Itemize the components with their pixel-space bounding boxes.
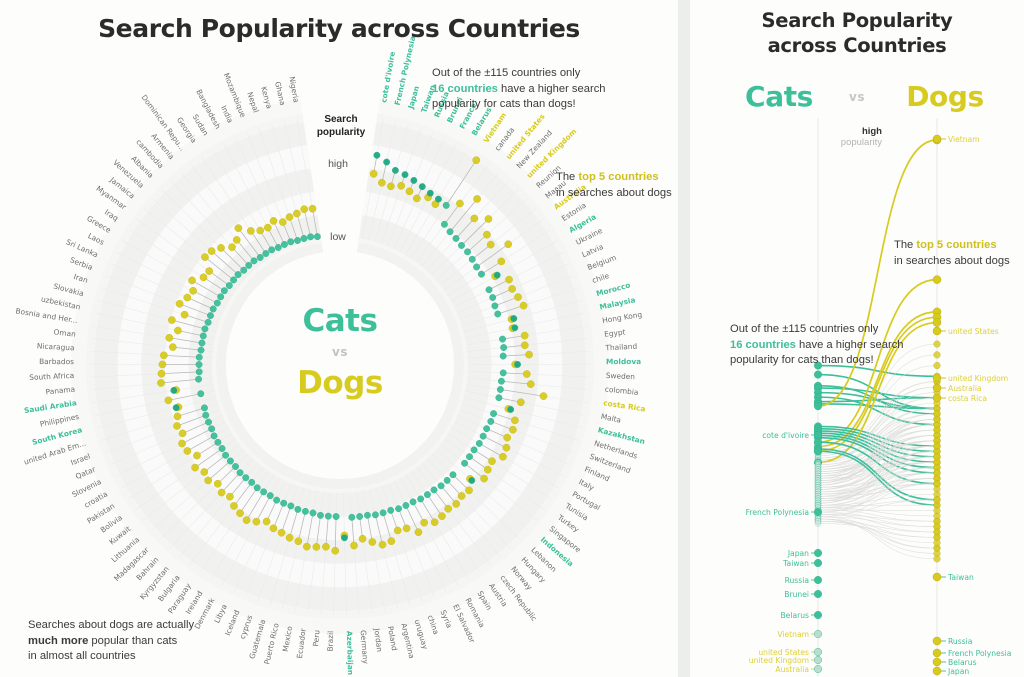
- slope-left-label: Australia: [775, 665, 809, 674]
- country-label: Barbados: [39, 357, 74, 366]
- country-label: Argentina: [399, 622, 416, 659]
- slope-right-label: united States: [948, 327, 999, 336]
- slope-left-label: Brunei: [784, 590, 809, 599]
- annotation-cats-line3: popularity for cats than dogs!: [432, 98, 576, 110]
- background-connector: [818, 519, 937, 559]
- country-label: Serbia: [69, 255, 94, 272]
- country-label: Nicaragua: [37, 341, 75, 352]
- slope-right-label: Belarus: [948, 658, 977, 667]
- country-label: china: [426, 614, 441, 636]
- country-label: costa Rica: [603, 398, 646, 413]
- background-connector: [818, 484, 937, 510]
- right-annotation-cats-line3: popularity for cats than dogs!: [730, 354, 874, 366]
- annotation-bottom-line1: Searches about dogs are actually: [28, 619, 194, 631]
- country-label: uruguay: [413, 618, 430, 651]
- country-label: Hong Kong: [602, 310, 643, 325]
- country-label: Latvia: [580, 242, 604, 259]
- right-annotation-dogs-highlight: top 5 countries: [916, 239, 996, 251]
- center-vs-label: vs: [240, 345, 440, 359]
- right-panel: Search Popularity across Countries Cats …: [690, 0, 1024, 677]
- country-label: Malaysia: [599, 295, 636, 311]
- country-label: Nepal: [245, 91, 260, 114]
- background-connector: [818, 521, 937, 548]
- center-dogs-label: Dogs: [240, 365, 440, 401]
- country-label: colombia: [604, 385, 638, 397]
- right-annotation-cats-line2: have a higher search: [796, 339, 904, 351]
- country-label: Thailand: [604, 342, 637, 353]
- background-connector: [818, 523, 937, 537]
- slope-left-label: Taiwan: [782, 559, 809, 568]
- axis-title: Search popularity: [303, 113, 379, 139]
- country-label: chile: [591, 271, 611, 285]
- country-label: Sweden: [606, 371, 636, 381]
- annotation-dogs-line2: in searches about dogs: [556, 187, 672, 199]
- country-label: Germany: [359, 630, 371, 665]
- axis-title-line2: popularity: [317, 127, 365, 138]
- country-label: Peru: [311, 629, 321, 646]
- center-cats-label: Cats: [240, 303, 440, 339]
- annotation-dogs-highlight: top 5 countries: [578, 171, 658, 183]
- slope-left-label: Russia: [785, 576, 809, 585]
- annotation-bottom-line1b: popular than cats: [88, 635, 177, 647]
- right-annotation-dogs-pre: The: [894, 239, 916, 251]
- annotation-dogs-pre: The: [556, 171, 578, 183]
- country-label: Mexico: [281, 625, 295, 652]
- country-label: South Africa: [29, 371, 74, 382]
- right-annotation-cats-count: Out of the ±115 countries only 16 countr…: [730, 322, 905, 369]
- country-label: Moldova: [606, 357, 641, 366]
- slope-left-label: Japan: [787, 549, 809, 558]
- country-label: Poland: [386, 625, 399, 651]
- left-panel: Search Popularity across Countries cote …: [0, 0, 678, 677]
- slope-left-label: cote d'ivoire: [762, 431, 809, 440]
- slope-right-label: French Polynesia: [948, 649, 1011, 658]
- country-label: Oman: [53, 327, 76, 338]
- slope-left-label: united Kingdom: [749, 656, 809, 665]
- axis-label-low: low: [303, 231, 373, 243]
- slope-right-label: united Kingdom: [948, 374, 1008, 383]
- country-label: Jordan: [372, 627, 384, 653]
- country-label: Azerbaijan: [345, 631, 355, 675]
- slope-left-label: French Polynesia: [746, 508, 809, 517]
- slope-right-label: Vietnam: [948, 135, 980, 144]
- slope-left-label: Vietnam: [777, 630, 809, 639]
- annotation-top5-dogs: The top 5 countries in searches about do…: [556, 170, 681, 201]
- country-label: Iran: [73, 272, 90, 285]
- annotation-bottom: Searches about dogs are actually much mo…: [28, 618, 258, 665]
- slope-right-label: Japan: [947, 667, 969, 676]
- country-label: Morocco: [595, 280, 631, 298]
- country-label: Malta: [600, 412, 622, 425]
- annotation-bottom-highlight: much more: [28, 635, 88, 647]
- country-label: Italy: [577, 477, 596, 492]
- country-label: Syria: [439, 609, 454, 630]
- right-annotation-cats-highlight: 16 countries: [730, 339, 796, 351]
- annotation-cats-line2: have a higher search: [498, 83, 606, 95]
- slope-right-label: costa Rica: [948, 394, 987, 403]
- country-label: Egypt: [604, 328, 626, 339]
- right-annotation-cats-line1: Out of the ±115 countries only: [730, 323, 878, 335]
- infographic-root: Search Popularity across Countries cote …: [0, 0, 1024, 677]
- country-label: uzbekistan: [40, 294, 81, 311]
- slope-right-label: Russia: [948, 637, 972, 646]
- country-label: Ecuador: [295, 627, 308, 659]
- panel-divider: [678, 0, 690, 677]
- slope-left-label: Belarus: [780, 611, 809, 620]
- slope-right-label: Taiwan: [947, 573, 974, 582]
- country-label: India: [219, 104, 235, 124]
- country-label: Kenya: [259, 85, 274, 109]
- axis-title-line1: Search: [324, 114, 357, 125]
- slope-right-label: Australia: [948, 384, 982, 393]
- annotation-cats-line1: Out of the ±115 countries only: [432, 67, 580, 79]
- country-label: Slovakia: [53, 282, 85, 299]
- country-label: Ghana: [273, 81, 287, 107]
- country-label: Brazil: [326, 631, 336, 652]
- annotation-cats-highlight: 16 countries: [432, 83, 498, 95]
- right-annotation-dogs-line2: in searches about dogs: [894, 255, 1010, 267]
- annotation-bottom-line2: in almost all countries: [28, 650, 136, 662]
- country-label: Panama: [45, 385, 75, 397]
- right-annotation-top5-dogs: The top 5 countries in searches about do…: [894, 238, 1019, 269]
- country-label: Israel: [69, 452, 91, 468]
- country-label: Japan: [406, 85, 421, 111]
- axis-label-high: high: [303, 158, 373, 170]
- annotation-cats-count: Out of the ±115 countries only 16 countr…: [432, 66, 667, 113]
